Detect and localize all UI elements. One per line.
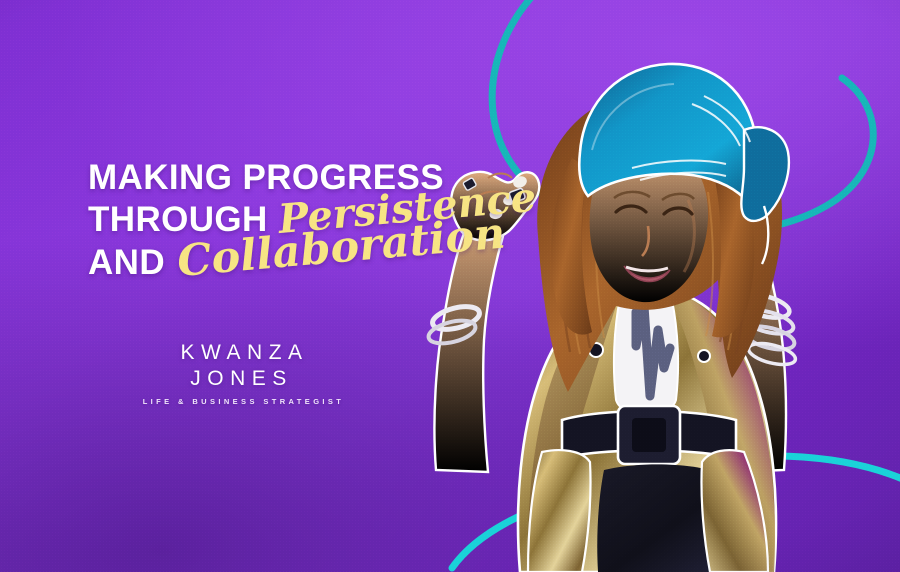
promotional-banner: MAKING PROGRESS THROUGH Persistence AND …	[0, 0, 900, 572]
headline-line3-block: AND	[88, 243, 165, 283]
subject-photo	[392, 0, 900, 572]
headline-line-3: AND Collaboration	[88, 240, 448, 283]
brand-logo: KWANZA JONES LIFE & BUSINESS STRATEGIST	[134, 340, 349, 406]
jacket-button	[698, 350, 710, 362]
brand-name: KWANZA JONES	[134, 340, 349, 392]
brand-tagline: LIFE & BUSINESS STRATEGIST	[134, 397, 349, 406]
headline: MAKING PROGRESS THROUGH Persistence AND …	[88, 158, 448, 283]
